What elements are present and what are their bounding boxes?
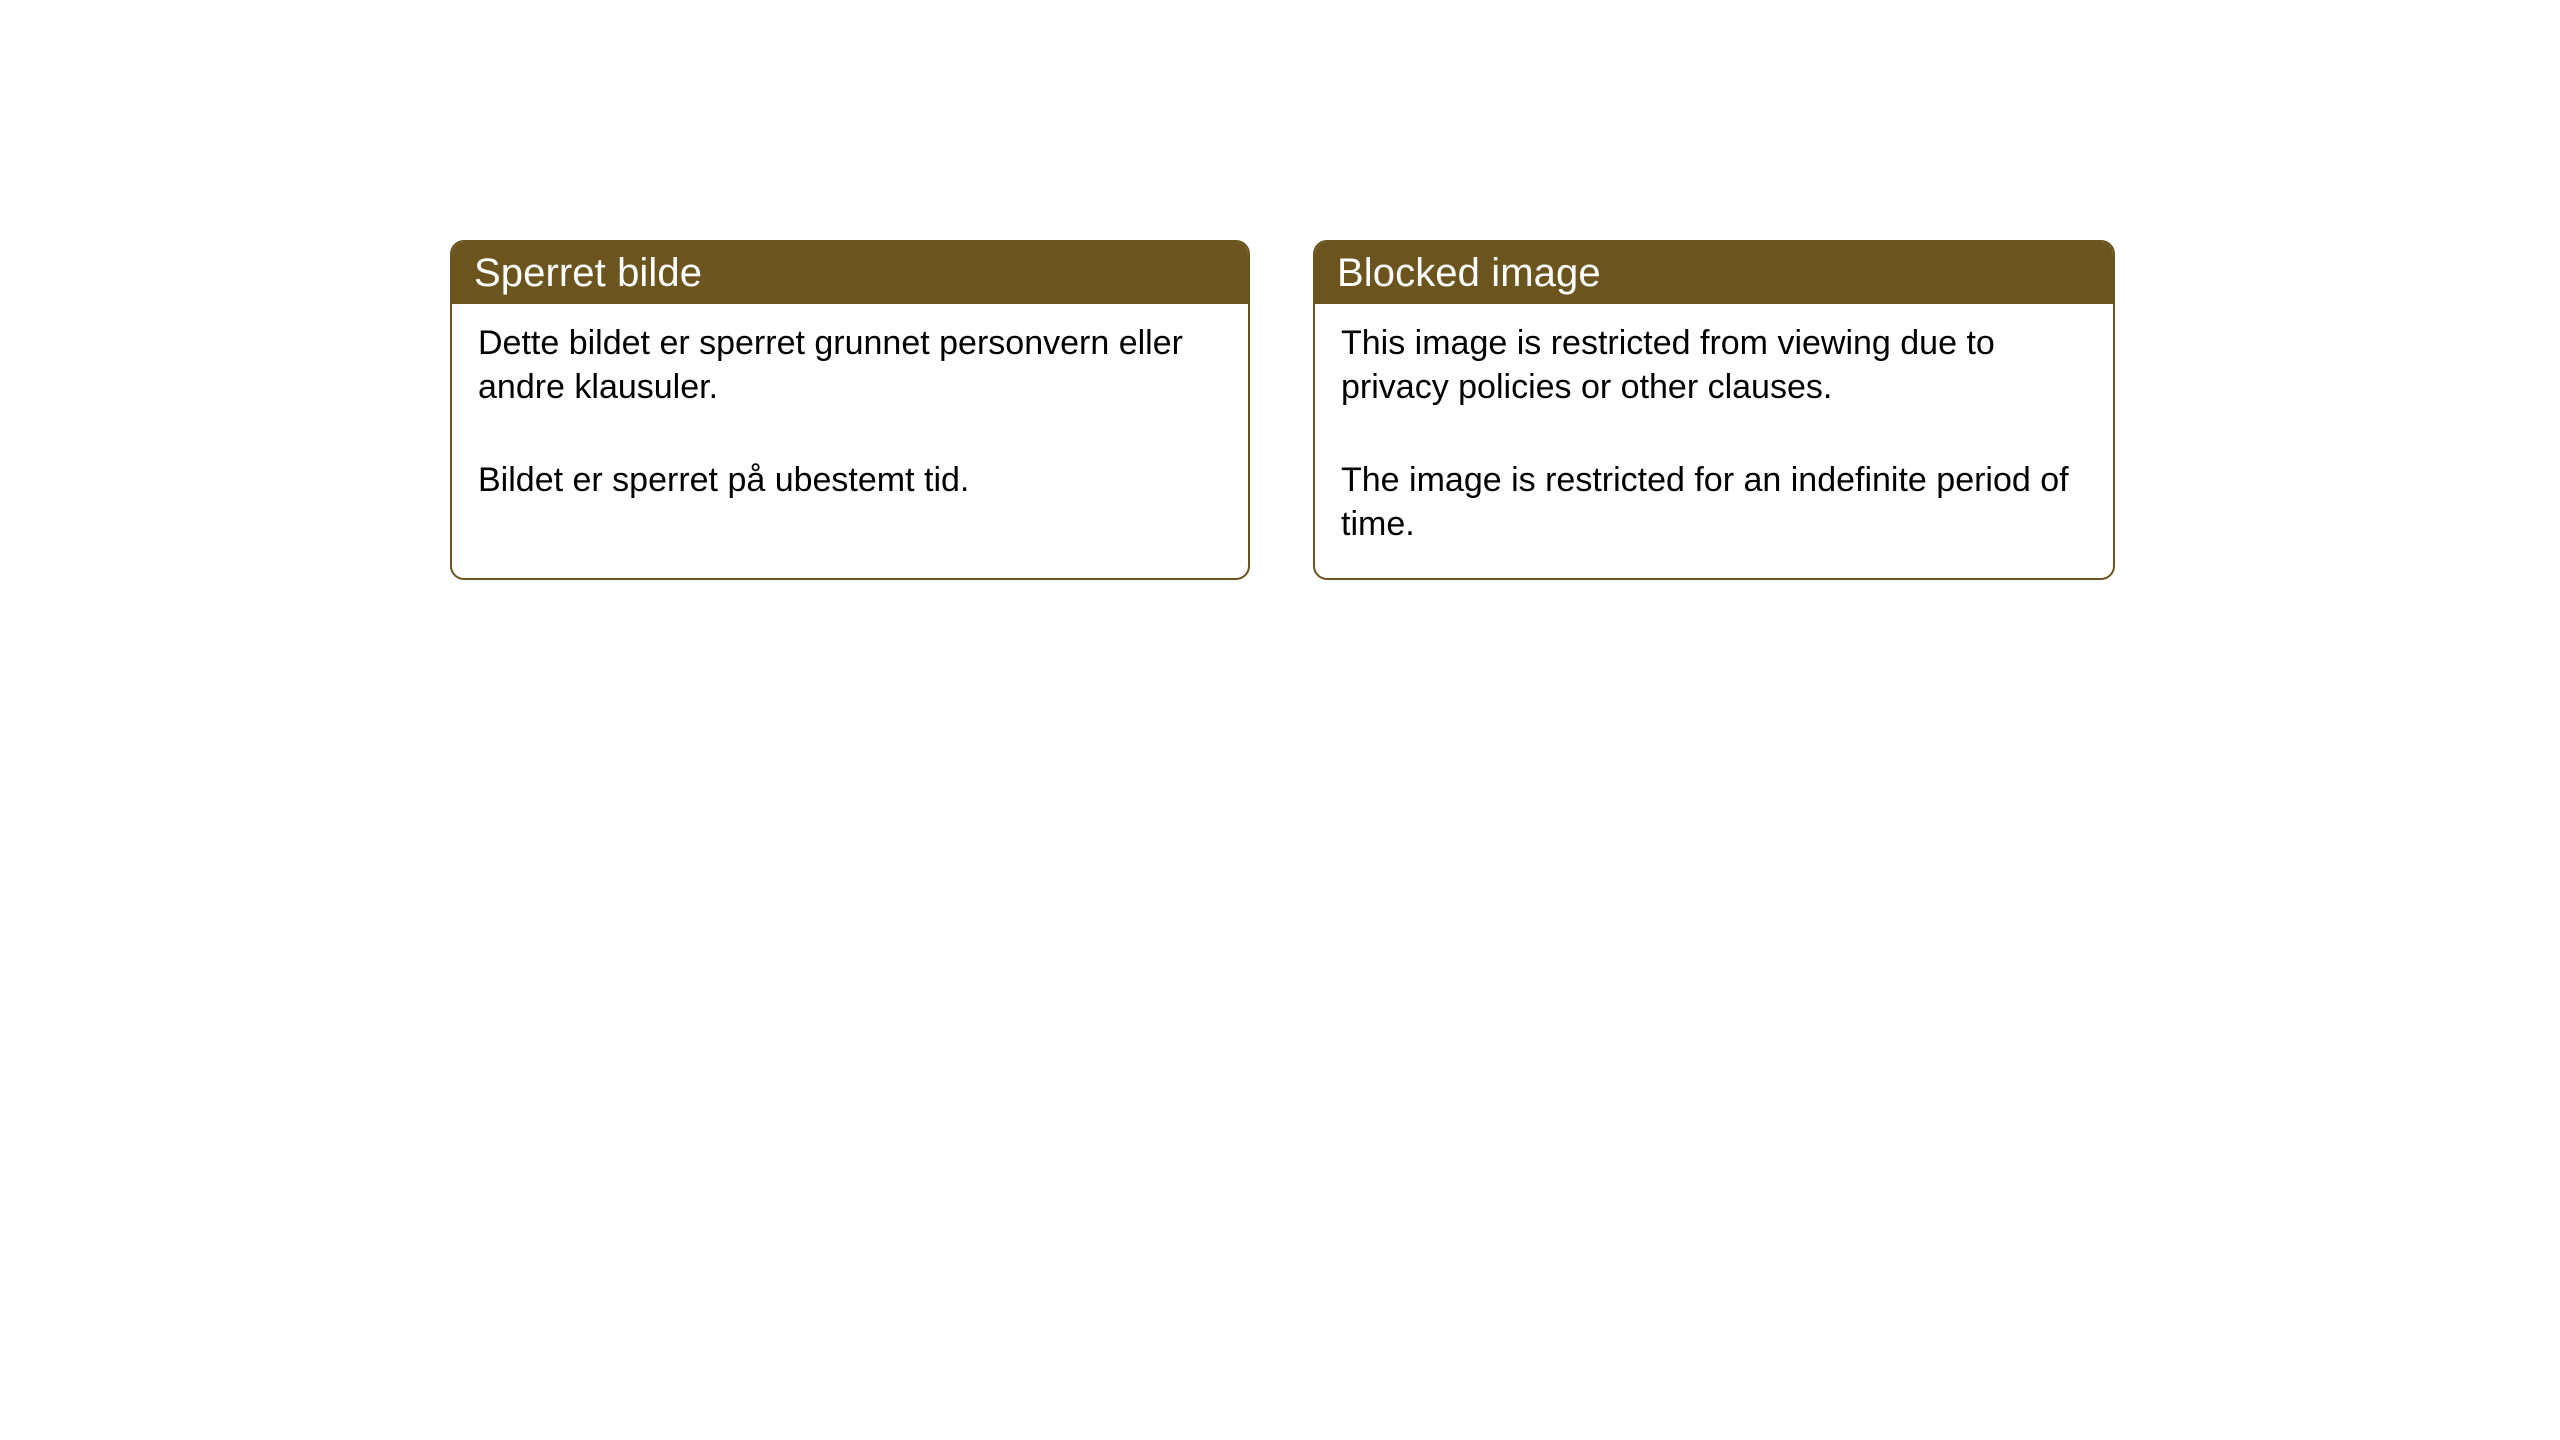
card-paragraph-primary-english: This image is restricted from viewing du… [1341, 322, 2087, 409]
page-canvas: Sperret bilde Dette bildet er sperret gr… [0, 0, 2560, 1440]
card-paragraph-primary-norwegian: Dette bildet er sperret grunnet personve… [478, 322, 1222, 409]
card-body-norwegian: Dette bildet er sperret grunnet personve… [452, 304, 1248, 503]
blocked-image-notice-english: Blocked image This image is restricted f… [1313, 240, 2115, 580]
card-paragraph-secondary-norwegian: Bildet er sperret på ubestemt tid. [478, 459, 1222, 503]
blocked-image-notice-norwegian: Sperret bilde Dette bildet er sperret gr… [450, 240, 1250, 580]
card-body-english: This image is restricted from viewing du… [1315, 304, 2113, 546]
card-title-norwegian: Sperret bilde [474, 253, 702, 293]
card-title-english: Blocked image [1337, 253, 1601, 293]
card-paragraph-secondary-english: The image is restricted for an indefinit… [1341, 459, 2087, 546]
card-header-norwegian: Sperret bilde [452, 242, 1248, 304]
card-header-english: Blocked image [1315, 242, 2113, 304]
